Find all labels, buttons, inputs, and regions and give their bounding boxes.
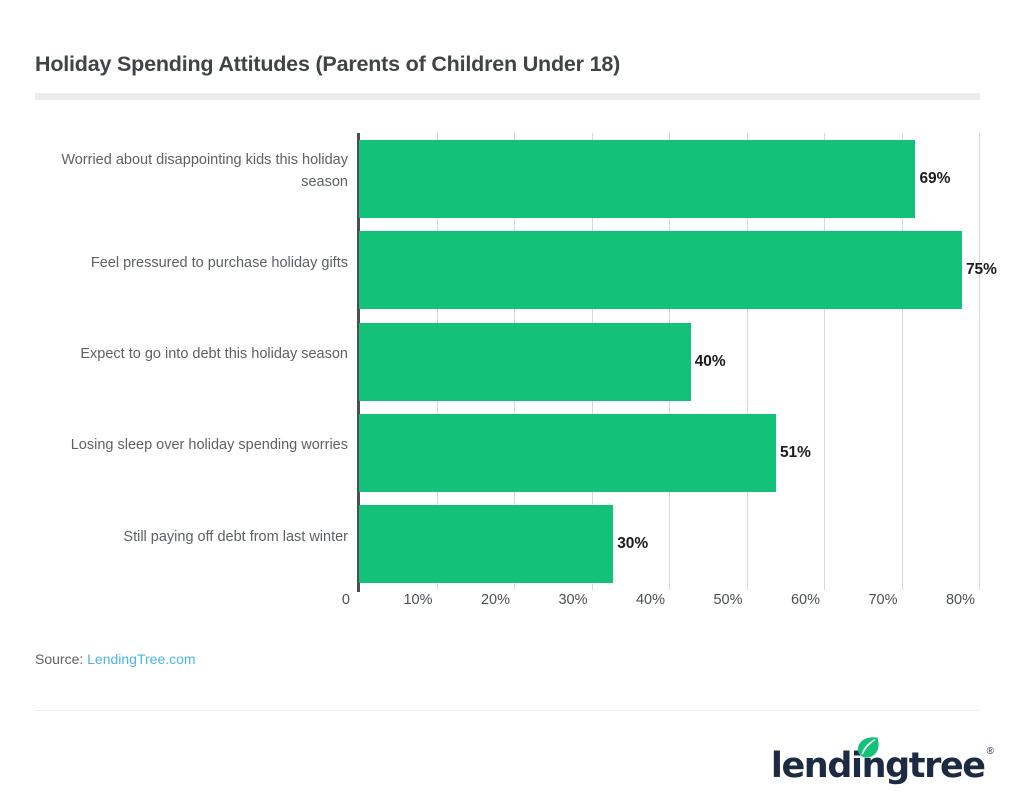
category-label: Feel pressured to purchase holiday gifts bbox=[23, 224, 348, 302]
x-axis-tick-labels: 010%20%30%40%50%60%70%80% bbox=[359, 592, 979, 616]
bar-row: 40% bbox=[359, 323, 979, 401]
x-tick-label-30: 30% bbox=[558, 592, 591, 608]
x-tick-label-60: 60% bbox=[791, 592, 824, 608]
bar-value-label: 69% bbox=[915, 170, 950, 188]
page-title: Holiday Spending Attitudes (Parents of C… bbox=[35, 52, 620, 77]
x-tick-label-80: 80% bbox=[946, 592, 979, 608]
x-tick-label-20: 20% bbox=[481, 592, 514, 608]
bar-row: 75% bbox=[359, 231, 979, 309]
title-divider bbox=[35, 93, 980, 100]
chart-page: Holiday Spending Attitudes (Parents of C… bbox=[0, 0, 1024, 812]
bar-row: 30% bbox=[359, 505, 979, 583]
logo-wordmark-text: lendingtree bbox=[771, 749, 985, 784]
x-tick-label-40: 40% bbox=[636, 592, 669, 608]
category-label-column: Worried about disappointing kids this ho… bbox=[23, 133, 348, 590]
category-label-text: Losing sleep over holiday spending worri… bbox=[71, 435, 348, 457]
bar-value-label: 30% bbox=[613, 535, 648, 553]
source-label: Source: bbox=[35, 651, 83, 667]
x-tick-label-50: 50% bbox=[713, 592, 746, 608]
x-tick-label-70: 70% bbox=[868, 592, 901, 608]
source-note: Source: LendingTree.com bbox=[35, 651, 196, 667]
plot-area: 69%75%40%51%30% bbox=[359, 133, 979, 590]
category-label-text: Feel pressured to purchase holiday gifts bbox=[91, 253, 348, 275]
category-label-text: Expect to go into debt this holiday seas… bbox=[80, 344, 348, 366]
bar[interactable] bbox=[359, 140, 915, 218]
bar-row: 69% bbox=[359, 140, 979, 218]
x-tick-label-0: 0 bbox=[342, 592, 359, 608]
logo-trademark: ® bbox=[987, 746, 994, 757]
bar-value-label: 75% bbox=[962, 261, 997, 279]
bar[interactable] bbox=[359, 323, 691, 401]
category-label: Worried about disappointing kids this ho… bbox=[23, 133, 348, 211]
category-label: Losing sleep over holiday spending worri… bbox=[23, 407, 348, 485]
bar-value-label: 51% bbox=[776, 444, 811, 462]
bar-value-label: 40% bbox=[691, 353, 726, 371]
category-label: Still paying off debt from last winter bbox=[23, 499, 348, 577]
category-label: Expect to go into debt this holiday seas… bbox=[23, 316, 348, 394]
category-label-text: Worried about disappointing kids this ho… bbox=[61, 150, 348, 194]
bar[interactable] bbox=[359, 505, 613, 583]
footer-divider bbox=[35, 710, 980, 711]
bar[interactable] bbox=[359, 231, 962, 309]
leaf-icon bbox=[855, 735, 880, 760]
bar-row: 51% bbox=[359, 414, 979, 492]
source-link[interactable]: LendingTree.com bbox=[87, 651, 195, 667]
lendingtree-logo: lendingtree ® bbox=[771, 740, 994, 784]
category-label-text: Still paying off debt from last winter bbox=[123, 527, 348, 549]
gridline-80 bbox=[979, 133, 980, 590]
bar[interactable] bbox=[359, 414, 776, 492]
x-tick-label-10: 10% bbox=[403, 592, 436, 608]
